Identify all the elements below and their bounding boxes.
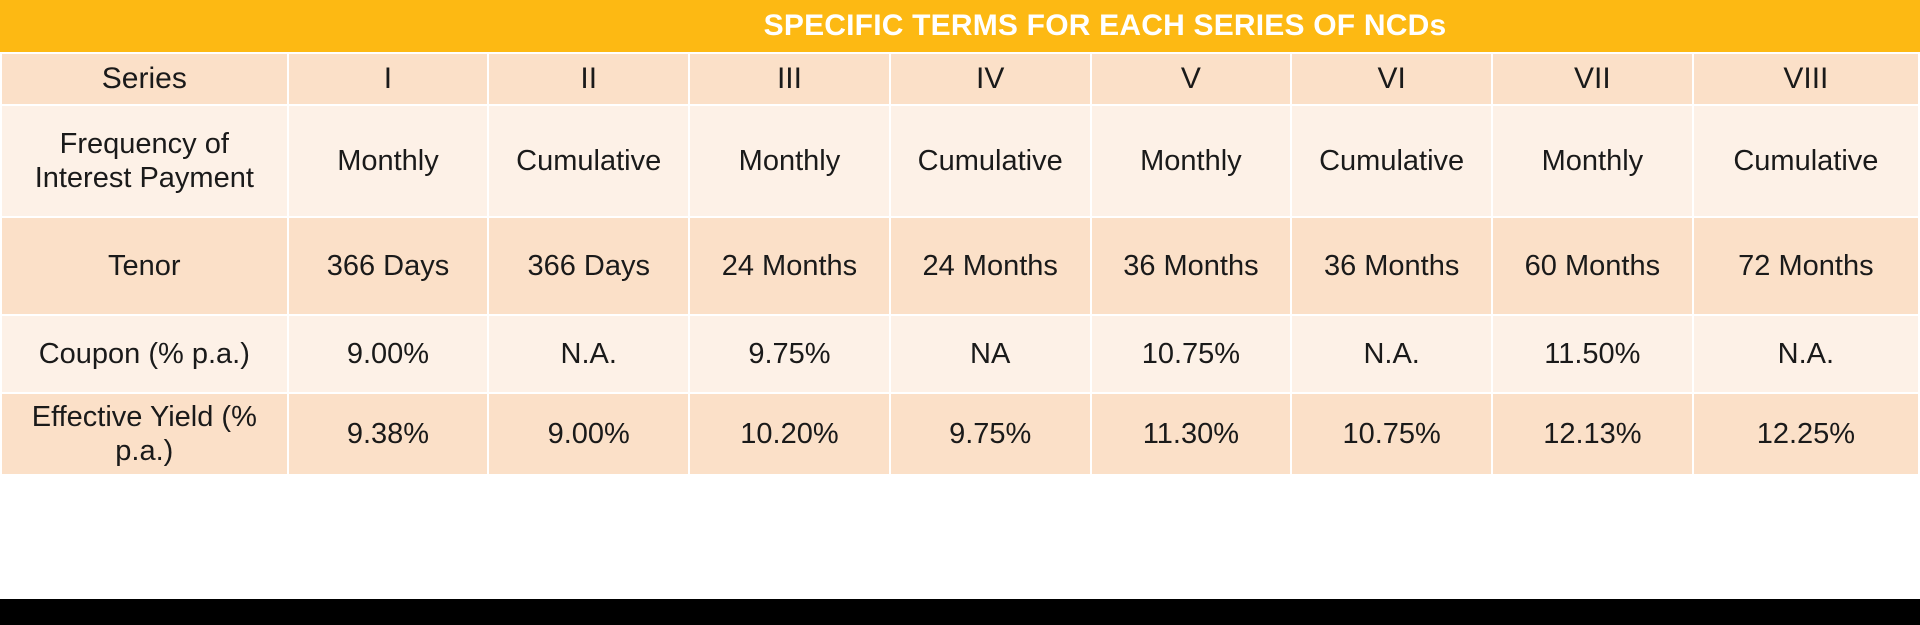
effective-yield-value-4: 9.75% [890,393,1091,475]
series-header-8: VIII [1693,53,1919,105]
bottom-black-band [0,599,1920,625]
effective-yield-value-6: 10.75% [1291,393,1492,475]
series-header-7: VII [1492,53,1693,105]
series-header-6: VI [1291,53,1492,105]
series-header-5: V [1091,53,1292,105]
coupon-value-7: 11.50% [1492,315,1693,393]
tenor-value-7: 60 Months [1492,217,1693,315]
table-row-effective-yield: Effective Yield (% p.a.) 9.38% 9.00% 10.… [1,393,1919,475]
effective-yield-value-5: 11.30% [1091,393,1292,475]
effective-yield-value-1: 9.38% [288,393,489,475]
row-label-effective-yield: Effective Yield (% p.a.) [1,393,288,475]
frequency-value-2: Cumulative [488,105,689,217]
frequency-value-7: Monthly [1492,105,1693,217]
coupon-value-3: 9.75% [689,315,890,393]
tenor-value-3: 24 Months [689,217,890,315]
specific-terms-table: Series I II III IV V VI VII VIII Frequen… [0,52,1920,476]
tenor-value-1: 366 Days [288,217,489,315]
effective-yield-value-8: 12.25% [1693,393,1919,475]
coupon-value-8: N.A. [1693,315,1919,393]
coupon-value-5: 10.75% [1091,315,1292,393]
effective-yield-value-2: 9.00% [488,393,689,475]
effective-yield-value-7: 12.13% [1492,393,1693,475]
series-header-4: IV [890,53,1091,105]
tenor-value-2: 366 Days [488,217,689,315]
series-header-3: III [689,53,890,105]
series-header-1: I [288,53,489,105]
tenor-value-4: 24 Months [890,217,1091,315]
coupon-value-6: N.A. [1291,315,1492,393]
coupon-value-4: NA [890,315,1091,393]
frequency-value-8: Cumulative [1693,105,1919,217]
frequency-value-1: Monthly [288,105,489,217]
table-row-frequency: Frequency of Interest Payment Monthly Cu… [1,105,1919,217]
ncd-terms-table-page: SPECIFIC TERMS FOR EACH SERIES OF NCDs S… [0,0,1920,625]
table-row-coupon: Coupon (% p.a.) 9.00% N.A. 9.75% NA 10.7… [1,315,1919,393]
row-label-tenor: Tenor [1,217,288,315]
frequency-value-5: Monthly [1091,105,1292,217]
tenor-value-5: 36 Months [1091,217,1292,315]
column-header-series: Series [1,53,288,105]
row-label-coupon: Coupon (% p.a.) [1,315,288,393]
series-header-2: II [488,53,689,105]
coupon-value-2: N.A. [488,315,689,393]
tenor-value-6: 36 Months [1291,217,1492,315]
frequency-value-4: Cumulative [890,105,1091,217]
frequency-value-3: Monthly [689,105,890,217]
frequency-value-6: Cumulative [1291,105,1492,217]
row-label-frequency: Frequency of Interest Payment [1,105,288,217]
page-title: SPECIFIC TERMS FOR EACH SERIES OF NCDs [764,9,1447,43]
table-header-row: Series I II III IV V VI VII VIII [1,53,1919,105]
tenor-value-8: 72 Months [1693,217,1919,315]
table-row-tenor: Tenor 366 Days 366 Days 24 Months 24 Mon… [1,217,1919,315]
effective-yield-value-3: 10.20% [689,393,890,475]
table-title-bar: SPECIFIC TERMS FOR EACH SERIES OF NCDs [0,0,1920,52]
coupon-value-1: 9.00% [288,315,489,393]
